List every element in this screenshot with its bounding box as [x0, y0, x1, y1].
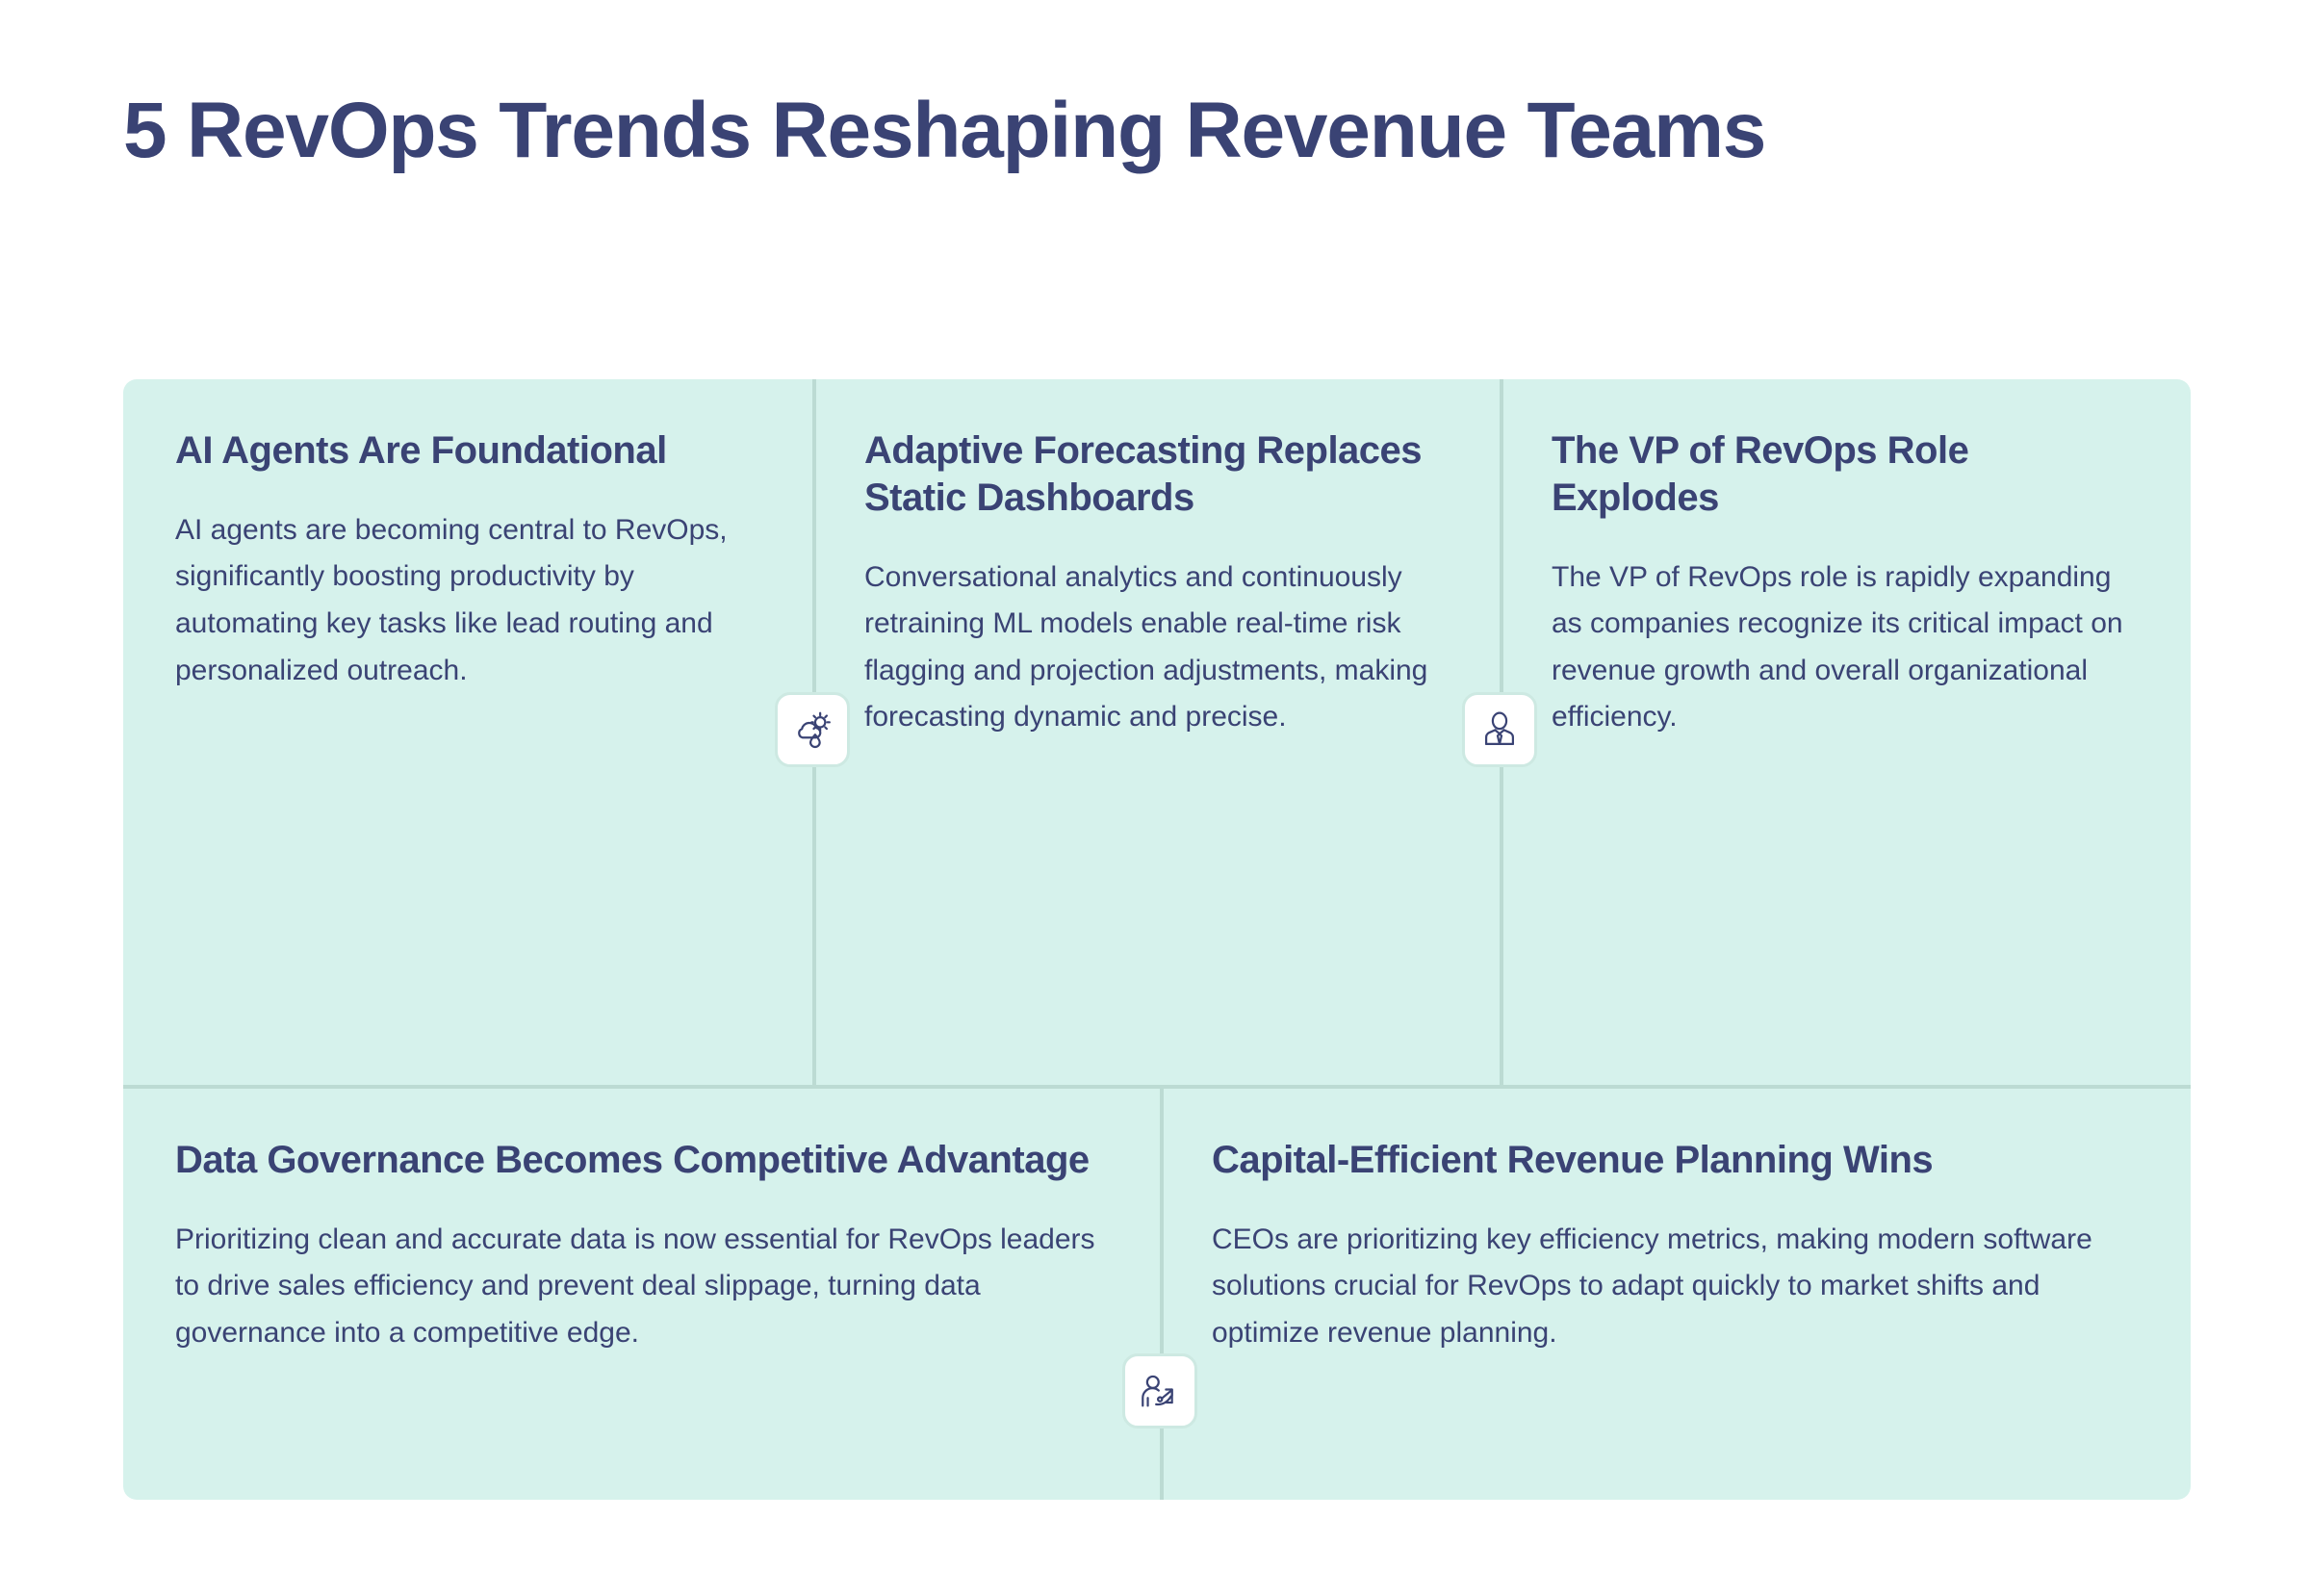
card-body: AI agents are becoming central to RevOps… [175, 507, 760, 694]
infographic-page: 5 RevOps Trends Reshaping Revenue Teams … [0, 0, 2310, 1596]
businessperson-icon [1477, 708, 1522, 752]
card-title: The VP of RevOps Role Explodes [1552, 427, 2139, 522]
grid-row-top: AI Agents Are Foundational AI agents are… [123, 379, 2191, 1085]
card-body: The VP of RevOps role is rapidly expandi… [1552, 554, 2139, 741]
card-title: Adaptive Forecasting Replaces Static Das… [864, 427, 1448, 522]
person-growth-arrow-icon [1138, 1369, 1182, 1413]
card-body: Prioritizing clean and accurate data is … [175, 1217, 1108, 1357]
card-body: Conversational analytics and continuousl… [864, 554, 1448, 741]
grid-row-bottom: Data Governance Becomes Competitive Adva… [123, 1089, 2191, 1500]
badge-sun-cloud-rain [775, 692, 850, 767]
card-title: Capital-Efficient Revenue Planning Wins [1212, 1137, 2139, 1184]
trend-card-data-governance: Data Governance Becomes Competitive Adva… [123, 1089, 1160, 1500]
card-title: Data Governance Becomes Competitive Adva… [175, 1137, 1108, 1184]
card-title: AI Agents Are Foundational [175, 427, 760, 475]
card-body: CEOs are prioritizing key efficiency met… [1212, 1217, 2139, 1357]
page-title: 5 RevOps Trends Reshaping Revenue Teams [123, 85, 2164, 178]
badge-businessperson [1462, 692, 1537, 767]
trends-grid: AI Agents Are Foundational AI agents are… [123, 379, 2191, 1500]
trend-card-ai-agents: AI Agents Are Foundational AI agents are… [123, 379, 812, 1085]
sun-cloud-rain-icon [790, 708, 834, 752]
badge-person-growth-arrow [1122, 1353, 1197, 1429]
trend-card-vp-revops: The VP of RevOps Role Explodes The VP of… [1500, 379, 2191, 1085]
trend-card-capital-efficient: Capital-Efficient Revenue Planning Wins … [1160, 1089, 2191, 1500]
trend-card-adaptive-forecasting: Adaptive Forecasting Replaces Static Das… [812, 379, 1500, 1085]
